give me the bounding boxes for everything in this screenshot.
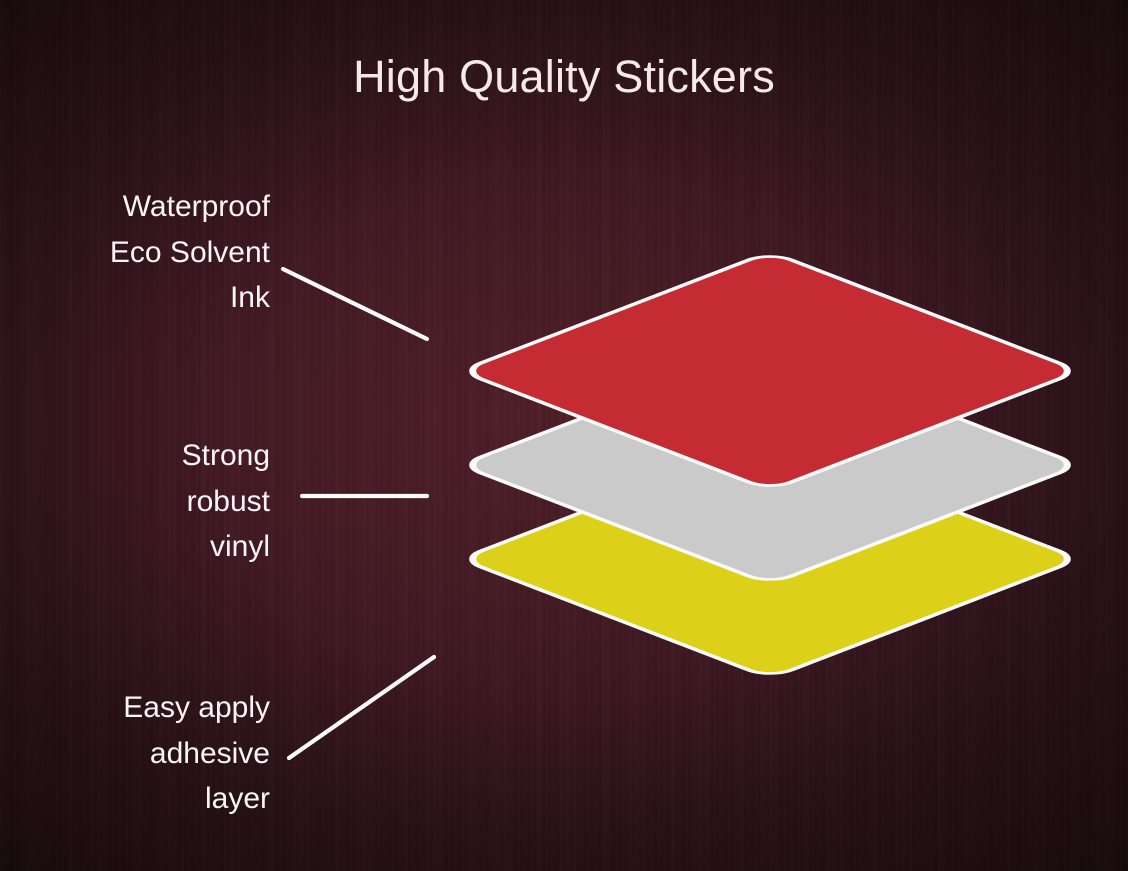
label-strong-robust-vinyl: Strong robust vinyl <box>18 433 270 570</box>
infographic-canvas: High Quality Stickers Waterproof Eco S <box>0 0 1128 871</box>
label-waterproof-eco-solvent-ink: Waterproof Eco Solvent Ink <box>18 184 270 321</box>
label-easy-apply-adhesive-layer: Easy apply adhesive layer <box>18 685 270 822</box>
